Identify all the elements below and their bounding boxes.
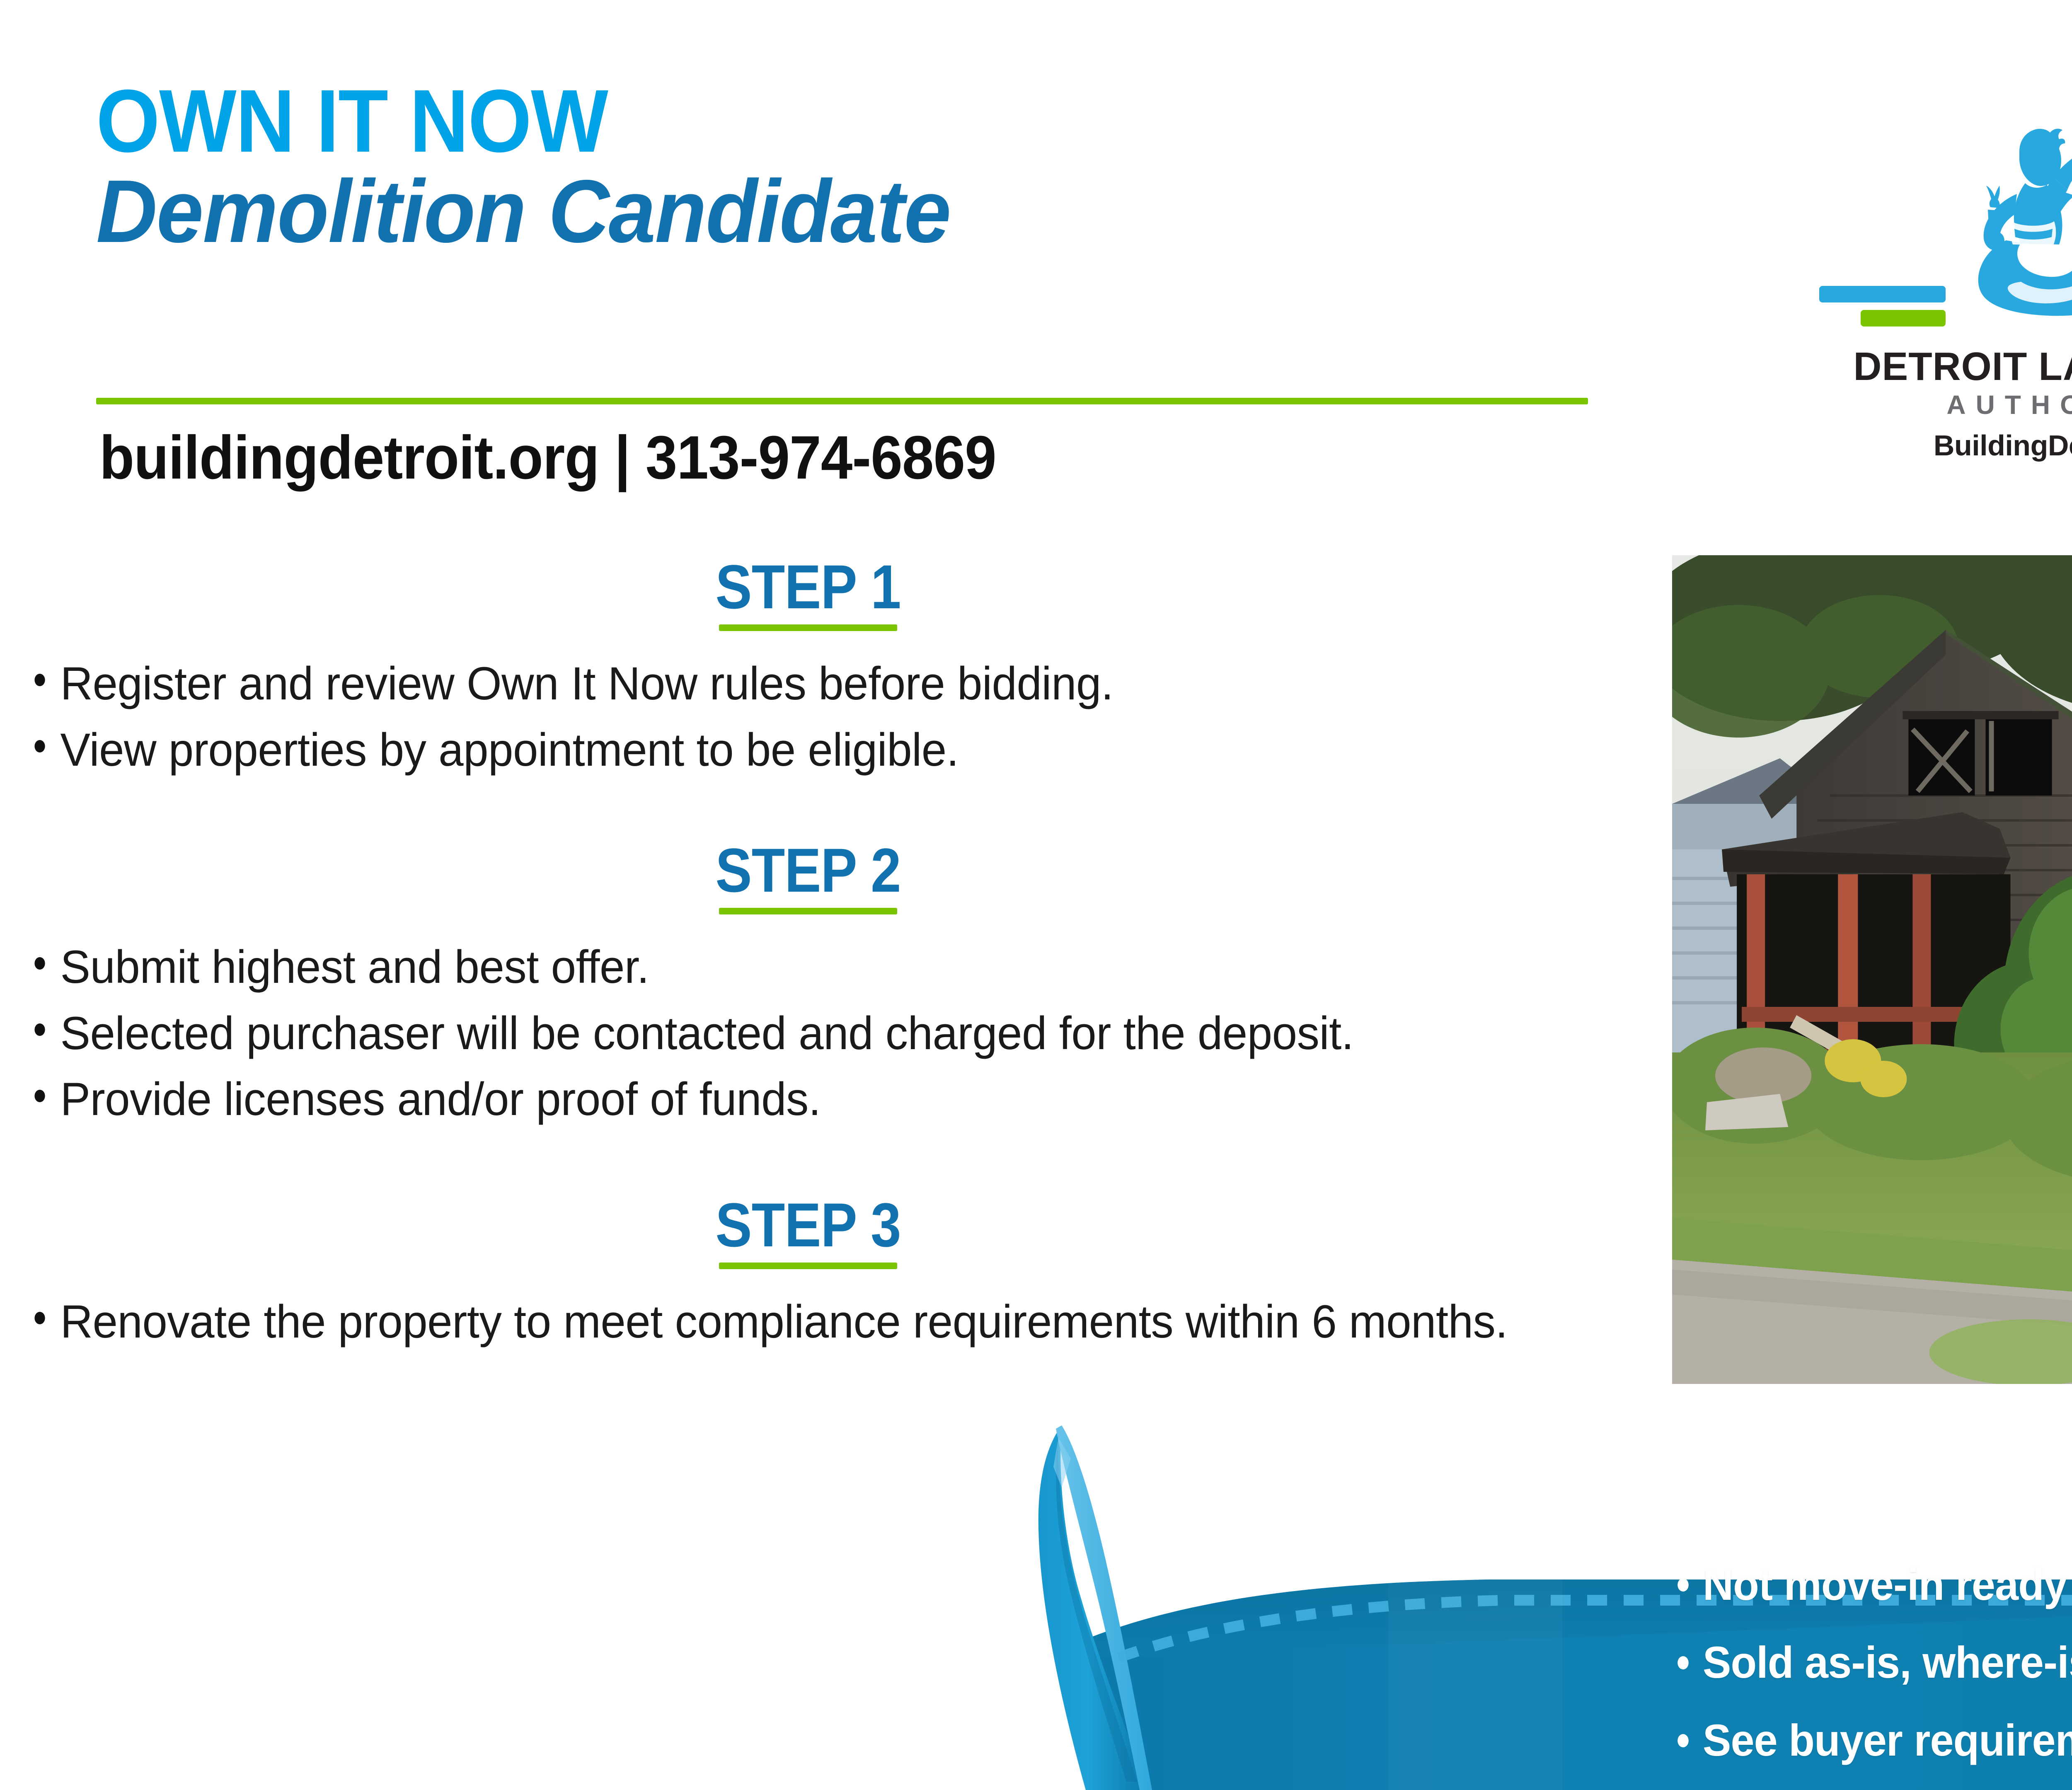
bullet-dot-icon: [1677, 1578, 1689, 1592]
logo-name: DETROIT LAND BANK: [1824, 344, 2072, 389]
logo-bar-blue-left: [1819, 286, 1946, 302]
step-underline: [719, 1263, 897, 1269]
detroit-land-bank-logo: DETROIT LAND BANK AUTHORITY BuildingDetr…: [1819, 75, 2072, 447]
list-item-text: Renovate the property to meet compliance…: [61, 1296, 1508, 1347]
bullet-dot-icon: [34, 957, 45, 970]
buyer-notice-list: Not move-in readySold as-is, where-isSee…: [1656, 1562, 2072, 1790]
list-item-text: Submit highest and best offer.: [61, 941, 649, 993]
header-title-block: OWN IT NOW Demolition Candidate: [96, 79, 1629, 257]
list-item-text: View properties by appointment to be eli…: [61, 724, 959, 776]
logo-bar-green-left: [1861, 310, 1946, 327]
page-title-secondary: Demolition Candidate: [96, 166, 1553, 256]
step-heading: STEP 2: [0, 835, 1616, 914]
step-label: STEP 3: [715, 1189, 900, 1261]
contact-line: buildingdetroit.org | 313-974-6869: [99, 423, 996, 493]
flyer-page: OWN IT NOW Demolition Candidate building…: [0, 0, 2072, 1790]
step-label: STEP 2: [715, 835, 900, 906]
list-item-text: Register and review Own It Now rules bef…: [61, 658, 1113, 709]
list-item-text: See buyer requirements: [1703, 1715, 2072, 1765]
step-bullet-list: Renovate the property to meet compliance…: [0, 1292, 1616, 1352]
step-block: STEP 3Renovate the property to meet comp…: [0, 1189, 1616, 1352]
bullet-dot-icon: [1677, 1656, 1689, 1669]
list-item-text: Selected purchaser will be contacted and…: [61, 1007, 1354, 1059]
list-item: See buyer requirements: [1656, 1718, 2072, 1763]
list-item: Register and review Own It Now rules bef…: [0, 653, 1568, 714]
list-item-text: Not move-in ready: [1703, 1559, 2067, 1609]
step-bullet-list: Submit highest and best offer.Selected p…: [0, 937, 1616, 1130]
section-spacer: [0, 1135, 1616, 1189]
bullet-dot-icon: [34, 740, 45, 752]
section-spacer: [0, 786, 1616, 835]
list-item: Submit highest and best offer.: [0, 937, 1568, 997]
header-divider: [96, 398, 1588, 404]
bullet-dot-icon: [34, 1023, 45, 1036]
logo-url: BuildingDetroit.org: [1819, 429, 2072, 462]
list-item: View properties by appointment to be eli…: [0, 720, 1568, 780]
bullet-dot-icon: [34, 674, 45, 686]
list-item-text: Sold as-is, where-is: [1703, 1637, 2072, 1687]
step-block: STEP 2Submit highest and best offer.Sele…: [0, 835, 1616, 1130]
step-bullet-list: Register and review Own It Now rules bef…: [0, 653, 1616, 780]
bullet-dot-icon: [34, 1312, 45, 1324]
list-item: Provide licenses and/or proof of funds.: [0, 1069, 1568, 1130]
buyer-notice-ribbon: Not move-in readySold as-is, where-isSee…: [1015, 1409, 2072, 1790]
list-item: Not move-in ready: [1656, 1562, 2072, 1607]
list-item: Selected purchaser will be contacted and…: [0, 1003, 1568, 1064]
logo-subtitle: AUTHORITY: [1819, 389, 2072, 420]
bullet-dot-icon: [1677, 1734, 1689, 1747]
step-block: STEP 1Register and review Own It Now rul…: [0, 551, 1616, 780]
step-heading: STEP 1: [0, 551, 1616, 631]
step-underline: [719, 624, 897, 631]
steps-section: STEP 1Register and review Own It Now rul…: [0, 551, 1616, 1358]
logo-bars: [1819, 286, 2072, 336]
list-item: Renovate the property to meet compliance…: [0, 1292, 1568, 1352]
step-label: STEP 1: [715, 551, 900, 623]
step-heading: STEP 3: [0, 1189, 1616, 1269]
bullet-dot-icon: [34, 1090, 45, 1102]
property-photo: [1672, 555, 2072, 1384]
page-title-primary: OWN IT NOW: [96, 79, 1507, 163]
step-underline: [719, 908, 897, 914]
list-item: Sold as-is, where-is: [1656, 1640, 2072, 1685]
list-item-text: Provide licenses and/or proof of funds.: [61, 1073, 821, 1125]
